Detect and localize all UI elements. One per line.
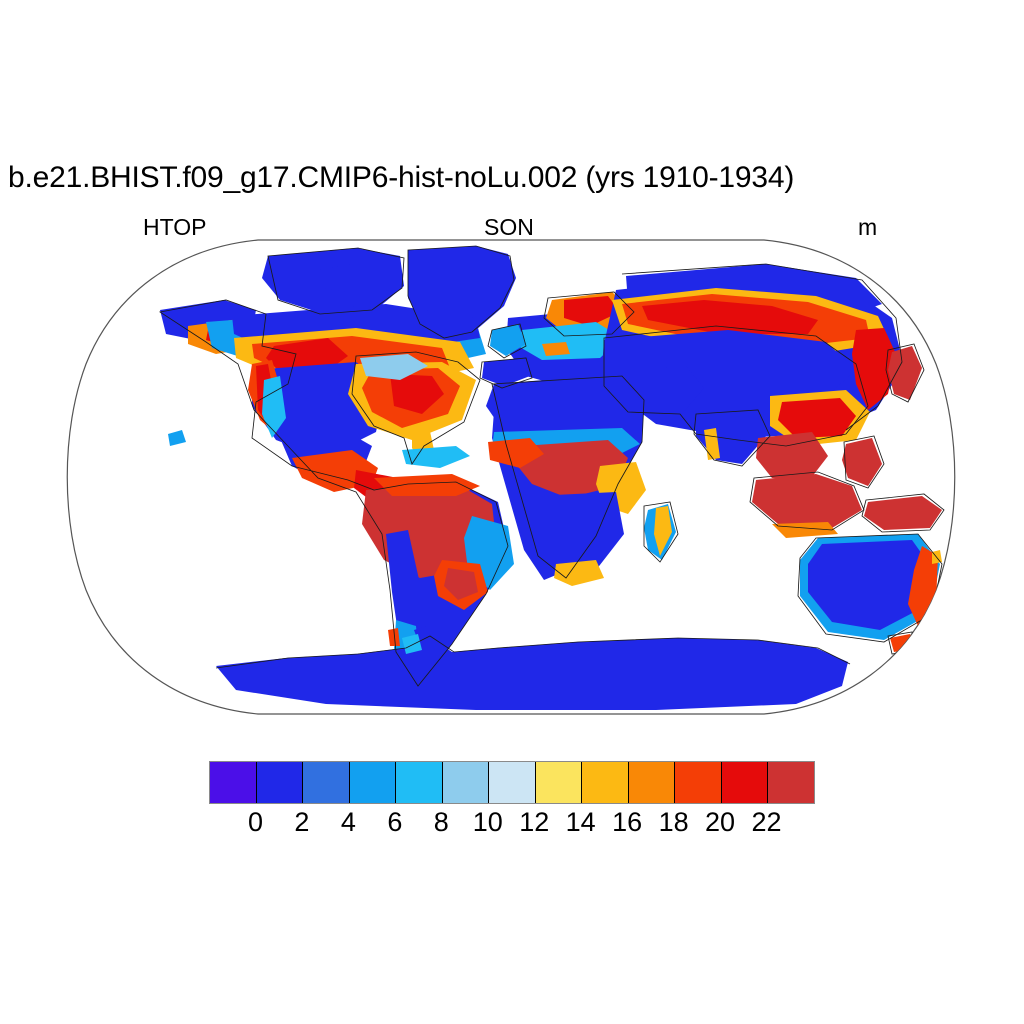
colorbar-cell-4[interactable] — [396, 762, 443, 803]
figure-title: b.e21.BHIST.f09_g17.CMIP6-hist-noLu.002 … — [8, 161, 1018, 195]
colorbar-tick-2: 2 — [294, 806, 309, 838]
colorbar-tick-4: 4 — [341, 806, 356, 838]
colorbar-tick-labels: 0246810121416182022 — [209, 806, 813, 840]
colorbar-cell-7[interactable] — [536, 762, 583, 803]
climate-map-figure: b.e21.BHIST.f09_g17.CMIP6-hist-noLu.002 … — [0, 0, 1024, 1024]
colorbar-tick-12: 12 — [519, 806, 549, 838]
colorbar-tick-18: 18 — [659, 806, 689, 838]
colorbar[interactable] — [209, 761, 815, 804]
colorbar-tick-16: 16 — [612, 806, 642, 838]
colorbar-cell-2[interactable] — [303, 762, 350, 803]
colorbar-cell-8[interactable] — [582, 762, 629, 803]
colorbar-cell-3[interactable] — [350, 762, 397, 803]
colorbar-cell-12[interactable] — [768, 762, 814, 803]
colorbar-cell-5[interactable] — [443, 762, 490, 803]
world-map-svg — [56, 234, 968, 720]
colorbar-cell-11[interactable] — [722, 762, 769, 803]
colorbar-tick-14: 14 — [566, 806, 596, 838]
colorbar-tick-10: 10 — [473, 806, 503, 838]
colorbar-tick-22: 22 — [752, 806, 782, 838]
colorbar-cell-0[interactable] — [210, 762, 257, 803]
colorbar-cell-1[interactable] — [257, 762, 304, 803]
colorbar-cell-9[interactable] — [629, 762, 676, 803]
alps-warm-dots — [542, 342, 570, 356]
colorbar-tick-20: 20 — [705, 806, 735, 838]
colorbar-cell-10[interactable] — [675, 762, 722, 803]
map-plot-area — [56, 234, 968, 720]
pacific-island-dot-1 — [952, 532, 964, 546]
colorbar-cell-6[interactable] — [489, 762, 536, 803]
colorbar-tick-0: 0 — [248, 806, 263, 838]
colorbar-tick-6: 6 — [387, 806, 402, 838]
colorbar-tick-8: 8 — [434, 806, 449, 838]
new-zealand-patch — [940, 578, 968, 626]
